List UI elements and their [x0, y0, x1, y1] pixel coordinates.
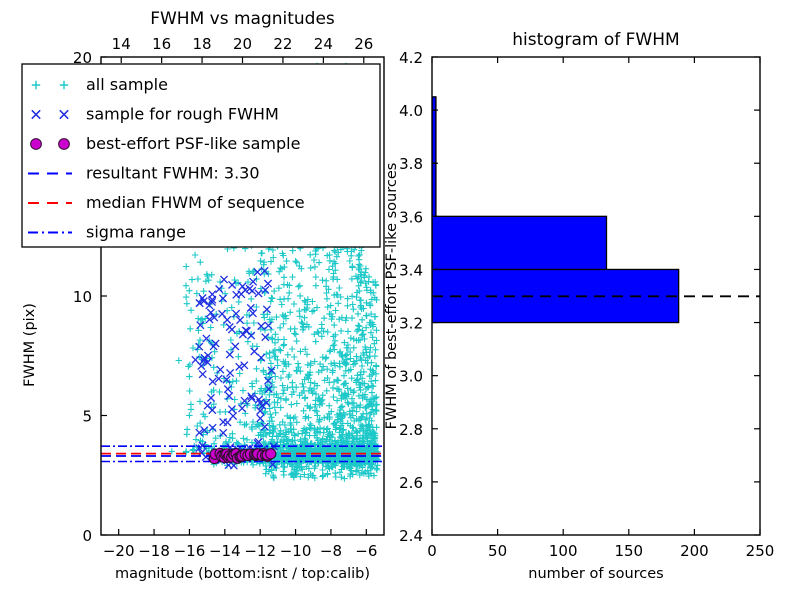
legend: all samplesample for rough FWHMbest-effo… [22, 64, 380, 247]
scatter-xtick-label: −14 [209, 542, 241, 560]
plus-icon [194, 290, 200, 296]
plus-icon [350, 306, 356, 312]
plus-icon [244, 320, 250, 326]
plus-icon [281, 472, 287, 478]
plus-icon [211, 364, 217, 370]
plus-icon [208, 324, 214, 330]
plus-icon [184, 431, 190, 437]
plus-icon [287, 309, 293, 315]
plus-icon [260, 311, 266, 317]
plus-icon [320, 392, 326, 398]
plus-icon [197, 420, 203, 426]
plus-icon [283, 258, 289, 264]
plus-icon [325, 304, 331, 310]
plus-icon [354, 372, 360, 378]
plus-icon [283, 397, 289, 403]
plus-icon [335, 300, 341, 306]
plus-icon [237, 370, 243, 376]
cross-icon [239, 405, 246, 412]
scatter-ytick-label: 10 [73, 288, 92, 306]
plus-icon [355, 253, 361, 259]
plus-icon [203, 278, 209, 284]
plus-icon [313, 274, 319, 280]
plus-icon [287, 326, 293, 332]
plus-icon [281, 341, 287, 347]
plus-icon [372, 377, 378, 383]
legend-item-label: median FHWM of sequence [86, 193, 305, 212]
plus-icon [302, 395, 308, 401]
plus-icon [193, 436, 199, 442]
plus-icon [236, 299, 242, 305]
cross-icon [210, 343, 217, 350]
histogram-left-tick-labels: 2.42.62.83.03.23.43.63.84.04.2 [399, 49, 423, 545]
plus-icon [279, 301, 285, 307]
plus-icon [292, 258, 298, 264]
psf-like-sample-points [209, 448, 276, 463]
cross-icon [264, 280, 271, 287]
plus-icon [278, 404, 284, 410]
plus-icon [363, 325, 369, 331]
circle-icon [59, 139, 70, 150]
scatter-xtick-label: −20 [103, 542, 135, 560]
plus-icon [290, 247, 296, 253]
histogram-ytick-label: 3.0 [399, 368, 423, 386]
histogram-xtick-label: 100 [549, 542, 578, 560]
scatter-ylabel: FWHM (pix) [22, 303, 38, 387]
plus-icon [295, 360, 301, 366]
plus-icon [200, 288, 206, 294]
plus-icon [269, 295, 275, 301]
plus-icon [293, 331, 299, 337]
plus-icon [266, 430, 272, 436]
plus-icon [188, 307, 194, 313]
plus-icon [228, 337, 234, 343]
plus-icon [275, 394, 281, 400]
cross-icon [220, 276, 227, 283]
plus-icon [326, 266, 332, 272]
plus-icon [187, 326, 193, 332]
plus-icon [197, 398, 203, 404]
plus-icon [299, 321, 305, 327]
histogram-ylabel: FWHM of best-effort PSF-like sources [384, 163, 400, 430]
scatter-top-tick-label: 14 [112, 35, 131, 53]
cross-icon [209, 291, 216, 298]
plus-icon [295, 284, 301, 290]
cross-icon [237, 317, 244, 324]
plus-icon [307, 421, 313, 427]
plus-icon [355, 311, 361, 317]
plus-icon [332, 470, 338, 476]
plus-icon [342, 361, 348, 367]
plus-icon [192, 252, 198, 258]
plus-icon [277, 265, 283, 271]
plus-icon [271, 384, 277, 390]
plus-icon [347, 355, 353, 361]
plus-icon [276, 346, 282, 352]
plus-icon [324, 296, 330, 302]
plus-icon [183, 263, 189, 269]
histogram-bars [432, 97, 679, 323]
cross-icon [251, 348, 258, 355]
scatter-xtick-label: −10 [280, 542, 312, 560]
plus-icon [342, 380, 348, 386]
plus-icon [359, 317, 365, 323]
plus-icon [351, 336, 357, 342]
cross-icon [257, 415, 264, 422]
plus-icon [369, 334, 375, 340]
plus-icon [360, 331, 366, 337]
cross-icon [230, 412, 237, 419]
plus-icon [336, 285, 342, 291]
plus-icon [258, 250, 264, 256]
scatter-xtick-label: −8 [320, 542, 342, 560]
scatter-top-tick-label: 20 [233, 35, 252, 53]
plus-icon [326, 403, 332, 409]
histogram-bottom-tick-marks [432, 529, 760, 535]
plus-icon [186, 412, 192, 418]
scatter-xtick-label: −18 [138, 542, 170, 560]
plus-icon [348, 335, 354, 341]
psf-like-point [266, 449, 276, 459]
cross-icon [265, 322, 272, 329]
plus-icon [197, 259, 203, 265]
scatter-title: FWHM vs magnitudes [150, 9, 335, 29]
plus-icon [301, 315, 307, 321]
plus-icon [338, 328, 344, 334]
plus-icon [277, 347, 283, 353]
plus-icon [368, 330, 374, 336]
plus-icon [281, 296, 287, 302]
plus-icon [323, 278, 329, 284]
plus-icon [253, 366, 259, 372]
plus-icon [307, 252, 313, 258]
plus-icon [276, 285, 282, 291]
plus-icon [324, 388, 330, 394]
plus-icon [278, 375, 284, 381]
cross-icon [207, 309, 214, 316]
plus-icon [319, 467, 325, 473]
cross-icon [241, 362, 248, 369]
plus-icon [280, 368, 286, 374]
scatter-top-tick-labels: 14161820222426 [112, 35, 374, 53]
cross-icon [226, 351, 233, 358]
plus-icon [291, 330, 297, 336]
plus-icon [289, 274, 295, 280]
plus-icon [373, 282, 379, 288]
cross-icon [207, 394, 214, 401]
histogram-ytick-label: 2.8 [399, 421, 423, 439]
histogram-ytick-label: 3.2 [399, 315, 423, 333]
plus-icon [330, 385, 336, 391]
legend-box [22, 64, 380, 247]
plus-icon [294, 338, 300, 344]
plus-icon [291, 354, 297, 360]
plus-icon [319, 321, 325, 327]
plus-icon [351, 345, 357, 351]
legend-item-label: sigma range [86, 223, 186, 242]
histogram-ytick-label: 2.6 [399, 474, 423, 492]
plus-icon [325, 329, 331, 335]
plus-icon [233, 378, 239, 384]
plus-icon [272, 410, 278, 416]
plus-icon [353, 294, 359, 300]
histogram-ytick-label: 2.4 [399, 527, 423, 545]
plus-icon [184, 301, 190, 307]
plus-icon [289, 346, 295, 352]
scatter-top-tick-label: 18 [193, 35, 212, 53]
plus-icon [281, 274, 287, 280]
plus-icon [286, 290, 292, 296]
plus-icon [234, 439, 240, 445]
histogram-panel: histogram of FWHM 050100150200250 2.42.6… [384, 30, 774, 582]
plus-icon [349, 315, 355, 321]
scatter-xlabel: magnitude (bottom:isnt / top:calib) [115, 566, 370, 582]
figure-canvas: FWHM vs magnitudes −20−18−16−14−12− [0, 0, 800, 600]
plus-icon [285, 352, 291, 358]
scatter-xtick-label: −6 [355, 542, 377, 560]
scatter-top-tick-label: 24 [314, 35, 333, 53]
plus-icon [344, 303, 350, 309]
plus-icon [300, 408, 306, 414]
plus-icon [270, 423, 276, 429]
plus-icon [194, 423, 200, 429]
plus-icon [373, 327, 379, 333]
legend-item-label: sample for rough FWHM [86, 105, 279, 124]
plus-icon [183, 294, 189, 300]
plus-icon [176, 357, 182, 363]
histogram-top-tick-marks [432, 57, 760, 63]
histogram-ytick-label: 4.2 [399, 49, 423, 67]
histogram-xtick-label: 250 [746, 542, 775, 560]
plus-icon [319, 277, 325, 283]
cross-icon [232, 343, 239, 350]
histogram-ytick-label: 3.8 [399, 155, 423, 173]
plus-icon [297, 293, 303, 299]
cross-icon [227, 369, 234, 376]
plus-icon [312, 264, 318, 270]
scatter-bottom-tick-marks [119, 529, 367, 535]
plus-icon [257, 258, 263, 264]
plus-icon [369, 389, 375, 395]
plus-icon [187, 388, 193, 394]
plus-icon [274, 362, 280, 368]
histogram-data-layer [432, 97, 760, 323]
plus-icon [269, 335, 275, 341]
scatter-ytick-label: 5 [82, 408, 92, 426]
plus-icon [189, 276, 195, 282]
plus-icon [217, 409, 223, 415]
plus-icon [186, 288, 192, 294]
cross-icon [233, 291, 240, 298]
rough-fwhm-points [192, 267, 278, 469]
plus-icon [281, 281, 287, 287]
histogram-xlabel: number of sources [528, 566, 664, 582]
plus-icon [308, 265, 314, 271]
scatter-ytick-label: 0 [82, 527, 92, 545]
plus-icon [300, 384, 306, 390]
plus-icon [357, 297, 363, 303]
histogram-title: histogram of FWHM [512, 30, 679, 50]
legend-item-label: all sample [86, 75, 168, 94]
plus-icon [321, 315, 327, 321]
plus-icon [337, 469, 343, 475]
legend-item-label: best-effort PSF-like sample [86, 134, 300, 153]
plus-icon [294, 400, 300, 406]
circle-icon [31, 139, 42, 150]
plus-icon [341, 475, 347, 481]
cross-icon [255, 290, 262, 297]
plus-icon [291, 301, 297, 307]
plus-icon [272, 373, 278, 379]
plus-icon [195, 327, 201, 333]
plus-icon [235, 354, 241, 360]
plus-icon [331, 322, 337, 328]
histogram-bar [432, 216, 606, 269]
plus-icon [334, 377, 340, 383]
plus-icon [366, 274, 372, 280]
cross-icon [217, 366, 224, 373]
cross-icon [228, 326, 235, 333]
histogram-ytick-label: 3.6 [399, 208, 423, 226]
matplotlib-figure: FWHM vs magnitudes −20−18−16−14−12− [0, 0, 800, 600]
plus-icon [188, 406, 194, 412]
plus-icon [297, 283, 303, 289]
plus-icon [350, 301, 356, 307]
scatter-top-tick-label: 26 [354, 35, 373, 53]
scatter-top-tick-label: 16 [152, 35, 171, 53]
plus-icon [296, 308, 302, 314]
cross-icon [224, 316, 231, 323]
plus-icon [333, 474, 339, 480]
histogram-xtick-label: 0 [427, 542, 437, 560]
plus-icon [330, 394, 336, 400]
plus-icon [359, 363, 365, 369]
plus-icon [261, 314, 267, 320]
plus-icon [268, 295, 274, 301]
legend-item-label: resultant FWHM: 3.30 [86, 164, 260, 183]
plus-icon [251, 320, 257, 326]
plus-icon [277, 325, 283, 331]
plus-icon [373, 362, 379, 368]
cross-icon [236, 363, 243, 370]
plus-icon [367, 302, 373, 308]
plus-icon [229, 304, 235, 310]
plus-icon [328, 302, 334, 308]
plus-icon [313, 338, 319, 344]
plus-icon [351, 388, 357, 394]
plus-icon [183, 449, 189, 455]
plus-icon [206, 277, 212, 283]
plus-icon [345, 328, 351, 334]
plus-icon [183, 283, 189, 289]
plus-icon [248, 296, 254, 302]
scatter-xtick-label: −12 [244, 542, 276, 560]
plus-icon [288, 401, 294, 407]
plus-icon [289, 380, 295, 386]
plus-icon [216, 389, 222, 395]
scatter-xtick-label: −16 [174, 542, 206, 560]
plus-icon [268, 298, 274, 304]
plus-icon [337, 364, 343, 370]
plus-icon [186, 373, 192, 379]
plus-icon [332, 307, 338, 313]
plus-icon [271, 288, 277, 294]
histogram-xtick-label: 200 [680, 542, 709, 560]
histogram-ytick-label: 4.0 [399, 102, 423, 120]
plus-icon [363, 266, 369, 272]
histogram-bottom-tick-labels: 050100150200250 [427, 542, 774, 560]
plus-icon [190, 345, 196, 351]
plus-icon [199, 316, 205, 322]
plus-icon [363, 312, 369, 318]
plus-icon [240, 387, 246, 393]
cross-icon [229, 281, 236, 288]
plus-icon [268, 360, 274, 366]
plus-icon [240, 435, 246, 441]
histogram-xtick-label: 50 [488, 542, 507, 560]
scatter-bottom-tick-labels: −20−18−16−14−12−10−8−6 [103, 542, 378, 560]
cross-icon [199, 371, 206, 378]
histogram-ytick-label: 3.4 [399, 261, 423, 279]
plus-icon [197, 337, 203, 343]
plus-icon [345, 401, 351, 407]
plus-icon [343, 352, 349, 358]
plus-icon [338, 474, 344, 480]
plus-icon [313, 283, 319, 289]
plus-icon [195, 276, 201, 282]
plus-icon [354, 429, 360, 435]
plus-icon [314, 304, 320, 310]
plus-icon [308, 425, 314, 431]
scatter-top-tick-marks [121, 57, 364, 63]
histogram-xtick-label: 150 [614, 542, 643, 560]
cross-icon [224, 386, 231, 393]
scatter-top-tick-label: 22 [273, 35, 292, 53]
